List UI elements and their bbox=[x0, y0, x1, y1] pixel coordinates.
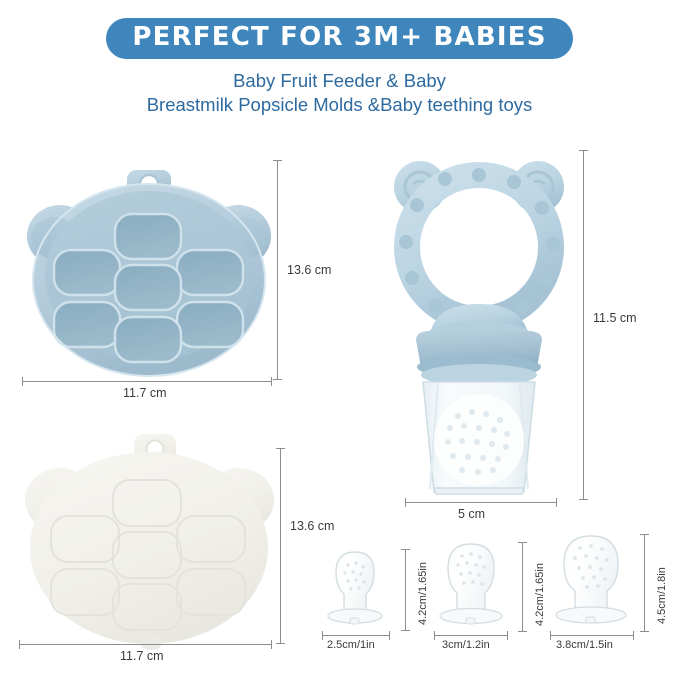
feeder-height-label: 11.5 cm bbox=[593, 311, 637, 325]
blue-mold-height-dimension-line bbox=[277, 160, 278, 380]
nipple-small-width-dimension-line bbox=[322, 635, 390, 636]
blue-mold-width-label: 11.7 cm bbox=[123, 386, 167, 400]
nipple-large-width-label: 3.8cm/1.5in bbox=[556, 639, 613, 651]
nipple-large-height-dimension-line bbox=[644, 534, 645, 632]
nipple-small bbox=[320, 548, 390, 635]
nipple-small-height-dimension-line bbox=[405, 549, 406, 631]
nipple-large bbox=[548, 532, 634, 635]
promo-banner: PERFECT FOR 3M+ BABIES bbox=[106, 18, 572, 59]
white-lid-width-dimension-line bbox=[19, 644, 272, 645]
feeder-width-label: 5 cm bbox=[458, 507, 485, 521]
nipple-large-height-label: 4.5cm/1.8in bbox=[656, 567, 668, 624]
nipple-medium-height-label: 4.2cm/1.65in bbox=[534, 563, 546, 626]
blue-bear-mold bbox=[18, 152, 280, 384]
feeder-width-dimension-line bbox=[405, 502, 557, 503]
nipple-large-width-dimension-line bbox=[550, 635, 634, 636]
white-lid-height-label: 13.6 cm bbox=[290, 519, 334, 533]
nipple-medium bbox=[432, 540, 510, 635]
white-bear-lid bbox=[15, 428, 283, 654]
feeder-height-dimension-line bbox=[583, 150, 584, 500]
fruit-feeder bbox=[390, 144, 570, 496]
subtitle-line-1: Baby Fruit Feeder & Baby bbox=[0, 69, 679, 93]
infographic-canvas: PERFECT FOR 3M+ BABIES Baby Fruit Feeder… bbox=[0, 0, 679, 679]
blue-mold-width-dimension-line bbox=[22, 381, 272, 382]
nipple-small-height-label: 4.2cm/1.65in bbox=[417, 562, 429, 625]
nipple-medium-width-dimension-line bbox=[434, 635, 508, 636]
nipple-medium-height-dimension-line bbox=[522, 542, 523, 632]
subtitle-line-2: Breastmilk Popsicle Molds &Baby teething… bbox=[0, 93, 679, 117]
nipple-medium-width-label: 3cm/1.2in bbox=[442, 639, 490, 651]
nipple-small-width-label: 2.5cm/1in bbox=[327, 639, 375, 651]
white-lid-height-dimension-line bbox=[280, 448, 281, 644]
blue-mold-height-label: 13.6 cm bbox=[287, 263, 331, 277]
white-lid-width-label: 11.7 cm bbox=[120, 649, 164, 663]
banner-container: PERFECT FOR 3M+ BABIES bbox=[0, 18, 679, 59]
